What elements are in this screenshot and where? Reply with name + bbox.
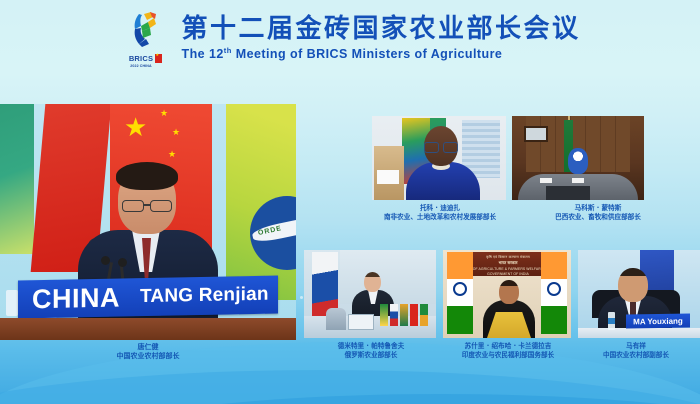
caption-name: 苏什里 · 绍布哈 · 卡兰德拉吉: [432, 342, 584, 351]
brics-wordmark-text: BRICS: [129, 54, 153, 63]
video-tile-china[interactable]: ★ ★ ★ ★ ★ CHINA TANG Renjian: [0, 104, 296, 340]
title-en-pre: The 12: [181, 47, 223, 61]
title-en-ordinal: th: [224, 46, 232, 55]
caption-name: 马有祥: [572, 342, 700, 351]
speaker-head: [364, 272, 381, 292]
caption-name: 马科斯 · 蒙特斯: [513, 204, 683, 213]
nameplate-name-label: MA Youxiang: [633, 316, 683, 326]
microphone-head: [101, 256, 110, 265]
video-feed-ma-youxiang: MA Youxiang: [578, 250, 700, 338]
glasses-bridge: [143, 204, 151, 206]
nameplate-china: CHINA TANG Renjian: [18, 276, 278, 319]
flag-star: ★: [168, 150, 176, 159]
caption-role: 巴西农业、畜牧和供应部部长: [513, 213, 683, 222]
south-africa-flag-icon: [420, 304, 428, 326]
speaker-head: [499, 280, 519, 304]
framed-picture: [524, 126, 548, 142]
speaker-hair: [116, 162, 178, 190]
video-tile-south-africa[interactable]: [372, 116, 506, 200]
microphone-head: [118, 258, 127, 267]
banner-line-hindi-1: कृषि एवं किसान कल्याण मंत्रालय: [469, 254, 547, 259]
caption-india: 苏什里 · 绍布哈 · 卡兰德拉吉 印度农业与农民福利部国务部长: [432, 342, 584, 360]
china-flag-icon: [155, 54, 162, 63]
laptop: [348, 314, 374, 330]
caption-china: 唐仁健 中国农业农村部部长: [0, 343, 296, 362]
flag-star: ★: [172, 128, 180, 137]
ashoka-chakra-icon: [547, 282, 561, 296]
microphone: [326, 308, 346, 330]
ashoka-chakra-icon: [453, 282, 467, 296]
banner-line-english-1: OF AGRICULTURE & FARMERS WELFARE: [469, 267, 547, 271]
event-title-chinese: 第十二届金砖国家农业部长会议: [181, 15, 580, 44]
desk: [0, 318, 296, 340]
russia-flag-icon: [390, 304, 398, 326]
brazil-flag-icon: [380, 304, 388, 326]
china-flag-icon: [410, 304, 418, 326]
brics-logo-icon: [125, 8, 165, 48]
caption-russia: 德米特里 · 帕特鲁舍夫 俄罗斯农业部部长: [296, 342, 446, 360]
caption-name: 德米特里 · 帕特鲁舍夫: [296, 342, 446, 351]
glasses-left-lens: [122, 200, 144, 212]
video-tile-brazil[interactable]: [512, 116, 644, 200]
caption-brazil: 马科斯 · 蒙特斯 巴西农业、畜牧和供应部部长: [513, 204, 683, 222]
speaker-head: [618, 268, 648, 302]
glasses-right-lens: [150, 200, 172, 212]
nameplate-name-label: TANG Renjian: [140, 284, 269, 308]
flag-green-left: [0, 104, 34, 254]
caption-role: 中国农业农村部副部长: [572, 351, 700, 360]
flag-star: ★: [160, 109, 168, 118]
desk: [578, 328, 700, 338]
papers: [572, 178, 584, 183]
caption-ma-youxiang: 马有祥 中国农业农村部副部长: [572, 342, 700, 360]
caption-role: 俄罗斯农业部部长: [296, 351, 446, 360]
video-tile-india[interactable]: कृषि एवं किसान कल्याण मंत्रालय भारत सरका…: [443, 250, 571, 338]
brics-logo-wordmark: BRICS 2022 CHINA: [129, 49, 162, 69]
papers: [377, 170, 399, 184]
water-bottle: [608, 312, 615, 330]
title-en-post: Meeting of BRICS Ministers of Agricultur…: [232, 47, 503, 61]
sparkle-dot: [300, 296, 303, 299]
banner-line-english-2: GOVERNMENT OF INDIA: [469, 272, 547, 276]
brics-year-text: 2022 CHINA: [129, 65, 153, 69]
banner-line-hindi-2: भारत सरकार: [469, 260, 547, 266]
papers: [540, 178, 552, 183]
conference-screen: BRICS 2022 CHINA 第十二届金砖国家农业部长会议 The 12th…: [0, 0, 700, 404]
water-bottle: [6, 290, 18, 316]
header-titles: 第十二届金砖国家农业部长会议 The 12th Meeting of BRICS…: [181, 15, 580, 62]
table-opening: [546, 186, 590, 200]
nameplate-ma-youxiang: MA Youxiang: [626, 313, 690, 328]
video-feed-russia: [304, 250, 436, 338]
video-feed-brazil: [512, 116, 644, 200]
brics-flag-set: [380, 304, 432, 330]
video-tile-ma-youxiang[interactable]: MA Youxiang: [578, 250, 700, 338]
event-header: BRICS 2022 CHINA 第十二届金砖国家农业部长会议 The 12th…: [0, 8, 700, 69]
india-flag-icon: [400, 304, 408, 326]
event-title-english: The 12th Meeting of BRICS Ministers of A…: [181, 47, 580, 62]
caption-role: 中国农业农村部部长: [0, 352, 296, 361]
video-feed-china: ★ ★ ★ ★ ★ CHINA TANG Renjian: [0, 104, 296, 340]
nameplate-country-label: CHINA: [22, 282, 120, 315]
desk-emblem: [568, 148, 588, 174]
video-tile-russia[interactable]: [304, 250, 436, 338]
brics-logo: BRICS 2022 CHINA: [119, 8, 171, 69]
video-feed-south-africa: [372, 116, 506, 200]
glasses-icon: [424, 142, 458, 151]
video-feed-india: कृषि एवं किसान कल्याण मंत्रालय भारत सरका…: [443, 250, 571, 338]
caption-role: 印度农业与农民福利部国务部长: [432, 351, 584, 360]
ministry-banner: कृषि एवं किसान कल्याण मंत्रालय भारत सरका…: [469, 252, 547, 276]
flag-star: ★: [124, 114, 147, 140]
